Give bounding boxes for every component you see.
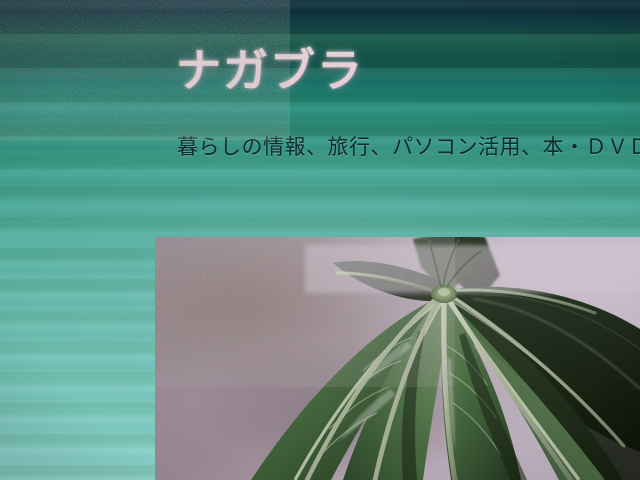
slide-photo [155,237,640,480]
projected-slide-photograph: ナガブラ 暮らしの情報、旅行、パソコン活用、本・ＤＶＤ等の [0,0,640,480]
plant-illustration [155,237,640,480]
slide-subtitle: 暮らしの情報、旅行、パソコン活用、本・ＤＶＤ等の [177,136,640,159]
slide-title: ナガブラ [176,48,364,93]
